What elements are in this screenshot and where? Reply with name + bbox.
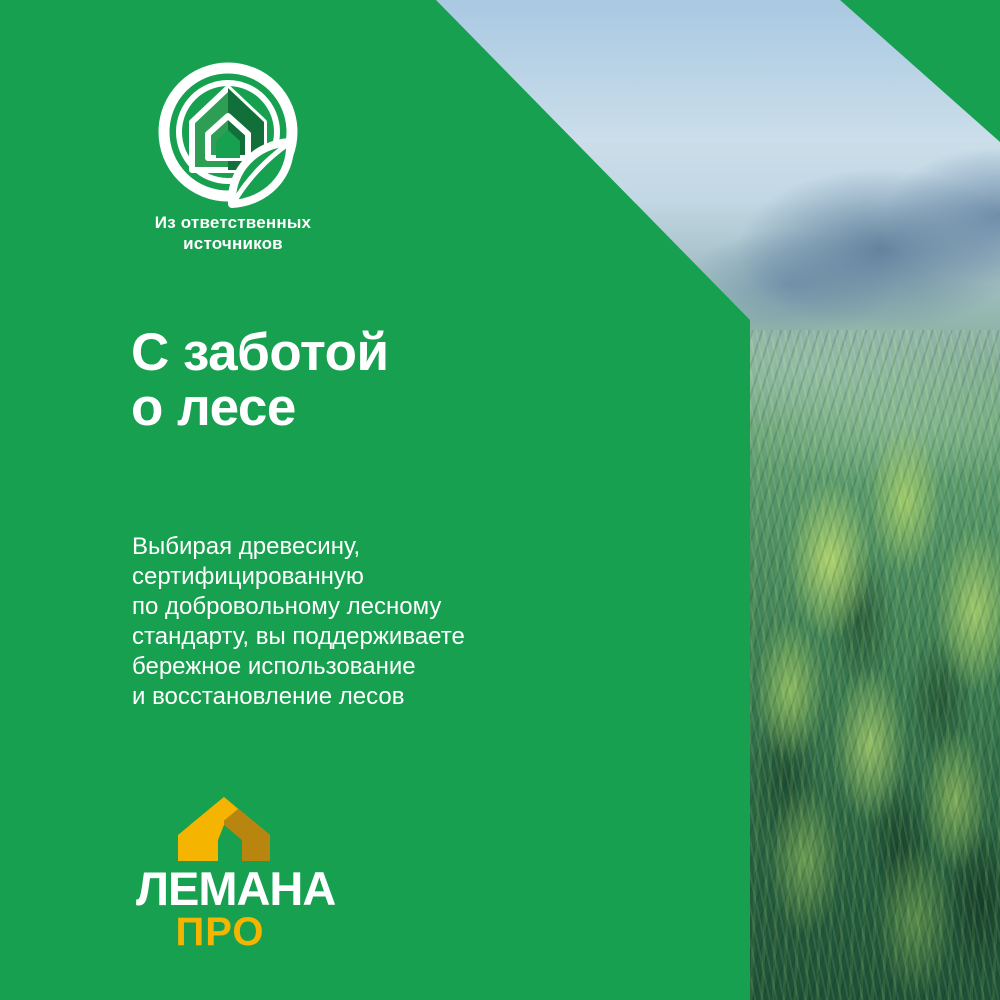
page-title: С заботой о лесе [131, 325, 651, 435]
body-line-3: по добровольному лесному [132, 592, 692, 622]
emblem-caption: Из ответственных источников [118, 212, 348, 254]
responsible-sources-emblem [152, 58, 312, 218]
brand-subname: ПРО [136, 911, 304, 953]
body-line-5: бережное использование [132, 652, 692, 682]
body-line-4: стандарту, вы поддерживаете [132, 622, 692, 652]
brand-name: ЛЕМАНА [136, 865, 336, 913]
body-line-1: Выбирая древесину, [132, 532, 692, 562]
headline-line-2: о лесе [131, 380, 651, 435]
poster-canvas: Из ответственных источников С заботой о … [0, 0, 1000, 1000]
body-copy: Выбирая древесину, сертифицированную по … [132, 532, 692, 712]
body-line-2: сертифицированную [132, 562, 692, 592]
emblem-caption-line-1: Из ответственных [118, 212, 348, 233]
emblem-caption-line-2: источников [118, 233, 348, 254]
lemana-house-icon [174, 795, 274, 863]
body-line-6: и восстановление лесов [132, 682, 692, 712]
headline-line-1: С заботой [131, 325, 651, 380]
lemana-pro-logo: ЛЕМАНА ПРО [136, 795, 336, 953]
